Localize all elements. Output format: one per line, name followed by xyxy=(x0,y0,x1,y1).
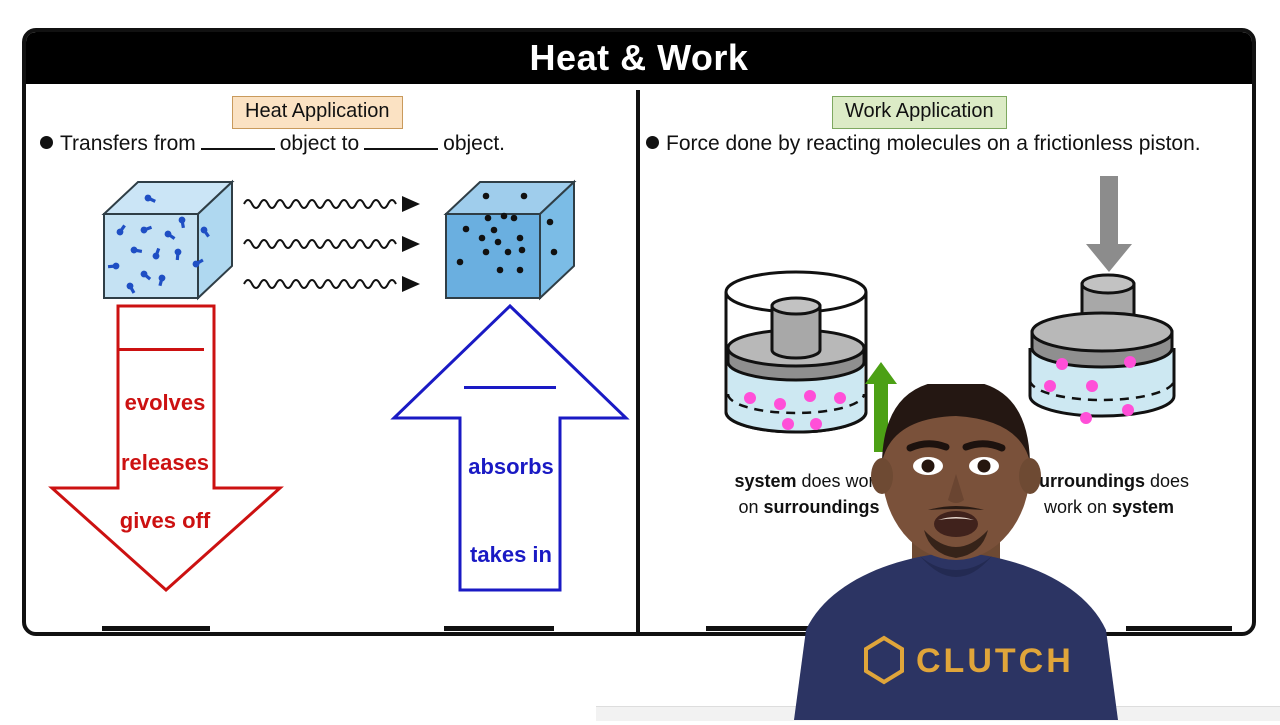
heat-blank-2[interactable] xyxy=(364,132,438,150)
column-divider xyxy=(636,90,640,634)
heat-bullet-prefix: Transfers from xyxy=(60,132,196,156)
endothermic-up-arrow: absorbs takes in xyxy=(378,302,634,599)
exothermic-label-releases: releases xyxy=(80,450,250,476)
exothermic-label-evolves: evolves xyxy=(80,390,250,416)
heat-bullet-suffix: object. xyxy=(443,132,505,156)
bullet-dot-icon xyxy=(646,136,659,149)
page-title: Heat & Work xyxy=(530,37,749,79)
answer-blank-exothermic[interactable] xyxy=(102,626,210,631)
bullet-dot-icon xyxy=(40,136,53,149)
hot-object-cube xyxy=(438,174,578,309)
endothermic-label-takes-in: takes in xyxy=(426,542,596,568)
work-bullet-text: Force done by reacting molecules on a fr… xyxy=(666,132,1201,156)
heat-blank-1[interactable] xyxy=(201,132,275,150)
cold-object-cube xyxy=(96,174,236,309)
exothermic-blank[interactable] xyxy=(118,348,204,351)
endothermic-blank[interactable] xyxy=(464,386,556,389)
heat-application-header: Heat Application xyxy=(232,96,403,129)
heat-bullet-line: Transfers from object to object. xyxy=(40,132,505,156)
heat-transfer-arrows xyxy=(238,190,428,305)
exothermic-down-arrow: evolves releases gives off xyxy=(34,302,290,599)
shirt-logo-text: CLUTCH xyxy=(916,642,1074,680)
work-application-header: Work Application xyxy=(832,96,1007,129)
endothermic-label-absorbs: absorbs xyxy=(426,454,596,480)
work-bullet-line: Force done by reacting molecules on a fr… xyxy=(646,132,1201,156)
title-banner: Heat & Work xyxy=(26,32,1252,84)
heat-bullet-middle: object to xyxy=(280,132,359,156)
exothermic-label-gives-off: gives off xyxy=(80,508,250,534)
presenter-video-overlay: CLUTCH xyxy=(744,384,1168,720)
answer-blank-endothermic[interactable] xyxy=(444,626,554,631)
